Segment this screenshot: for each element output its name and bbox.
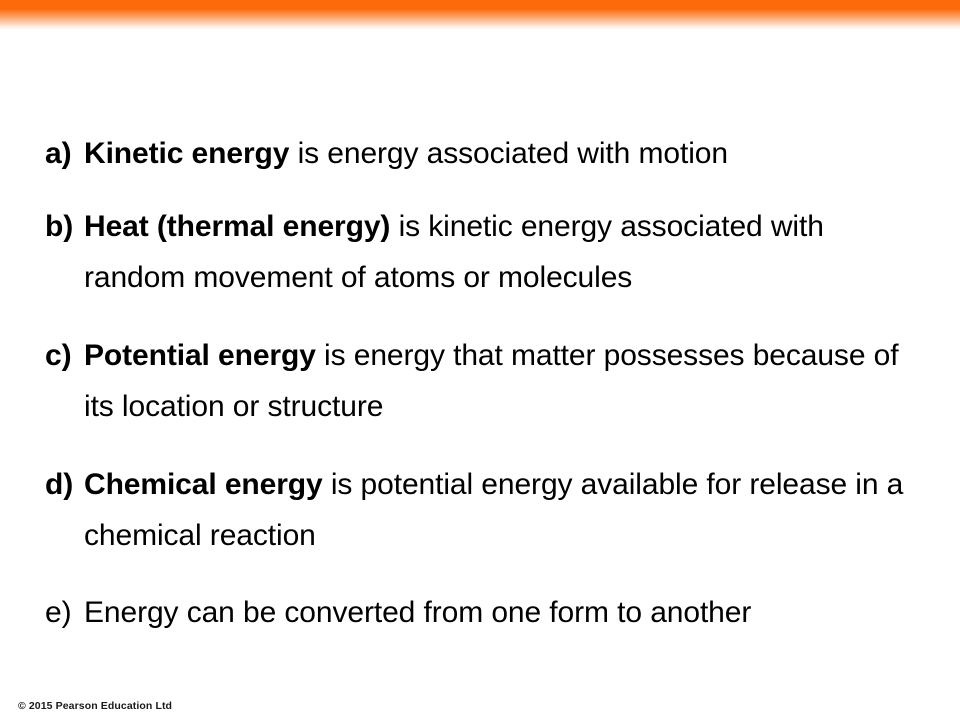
slide-canvas: a) Kinetic energy is energy associated w… xyxy=(0,0,960,720)
list-item: b) Heat (thermal energy) is kinetic ener… xyxy=(45,201,925,303)
list-item: a) Kinetic energy is energy associated w… xyxy=(45,128,925,179)
list-item-text-a: Kinetic energy is energy associated with… xyxy=(84,128,925,179)
list-item: c) Potential energy is energy that matte… xyxy=(45,330,925,432)
slide-body-content: a) Kinetic energy is energy associated w… xyxy=(45,128,925,638)
list-item-lead-d: Chemical energy xyxy=(84,468,323,501)
list-item-text-e: Energy can be converted from one form to… xyxy=(84,587,925,638)
list-item-text-d: Chemical energy is potential energy avai… xyxy=(84,459,925,561)
list-item-lead-b: Heat (thermal energy) xyxy=(84,210,390,243)
list-item-text-b: Heat (thermal energy) is kinetic energy … xyxy=(84,201,925,303)
list-marker-e: e) xyxy=(45,587,84,638)
list-item-text-c: Potential energy is energy that matter p… xyxy=(84,330,925,432)
accent-band-gradient xyxy=(0,9,960,30)
list-item-lead-c: Potential energy xyxy=(84,339,316,372)
copyright-footer: © 2015 Pearson Education Ltd xyxy=(18,700,172,712)
list-item: e) Energy can be converted from one form… xyxy=(45,587,925,638)
list-item-lead-a: Kinetic energy xyxy=(84,137,289,170)
list-marker-a: a) xyxy=(45,128,84,179)
orange-accent-band xyxy=(0,0,960,30)
list-marker-d: d) xyxy=(45,459,84,510)
list-marker-c: c) xyxy=(45,330,84,381)
accent-band-solid xyxy=(0,0,960,9)
list-item-rest-a: is energy associated with motion xyxy=(289,137,728,170)
list-marker-b: b) xyxy=(45,201,84,252)
list-item-rest-e: Energy can be converted from one form to… xyxy=(84,596,751,629)
list-item: d) Chemical energy is potential energy a… xyxy=(45,459,925,561)
